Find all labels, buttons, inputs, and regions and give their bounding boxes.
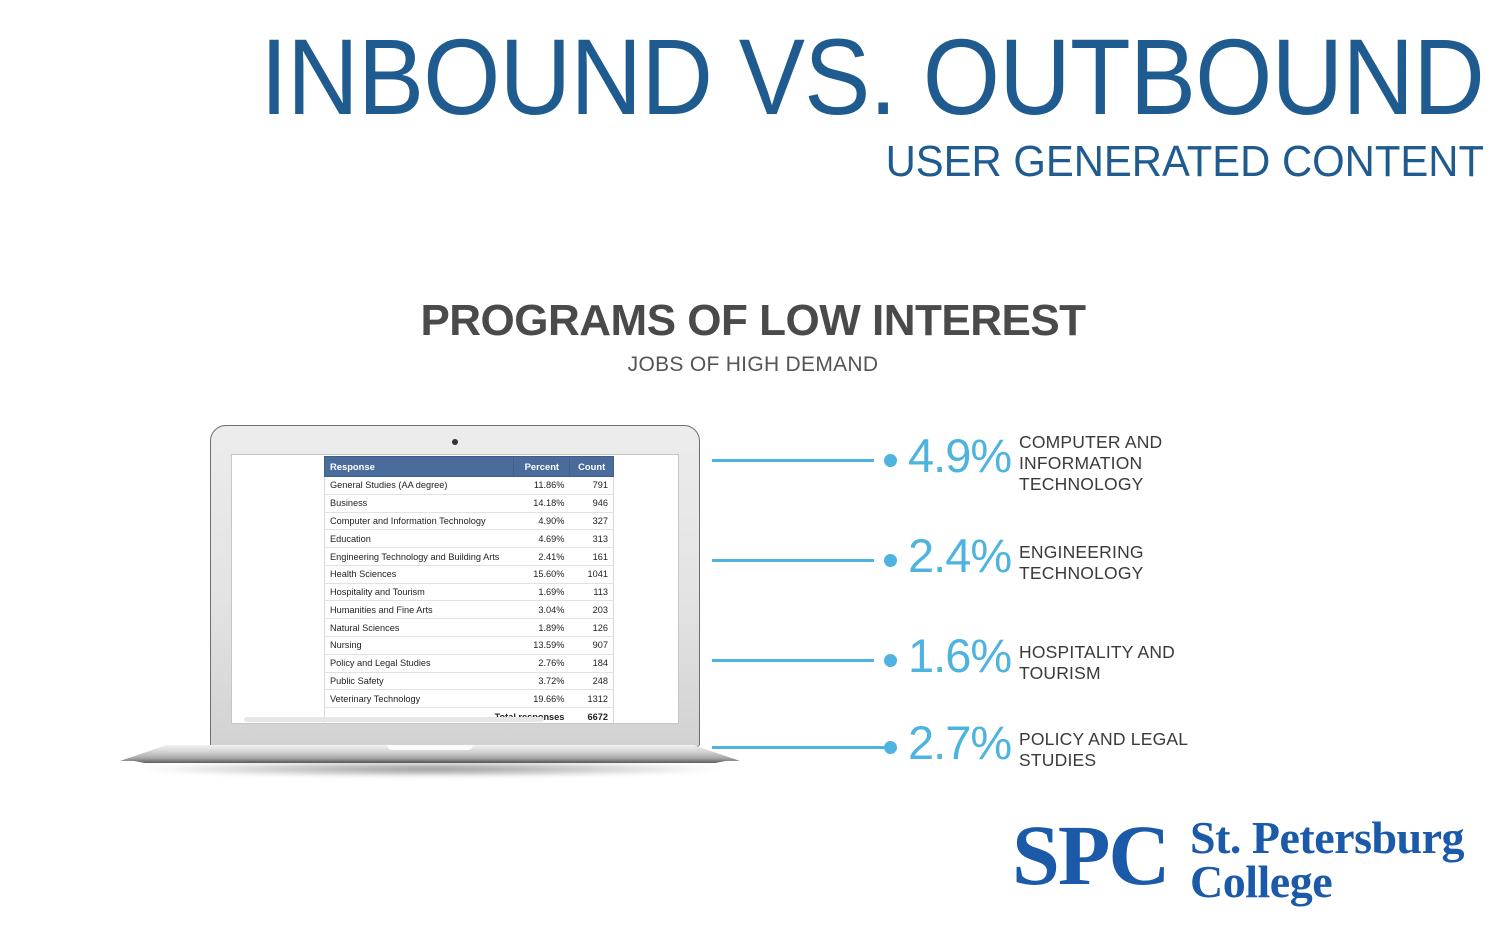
cell-percent: 14.18%	[514, 494, 570, 512]
callout-percent: 2.4%	[908, 532, 1011, 579]
table-row: Engineering Technology and Building Arts…	[325, 548, 614, 566]
table-row: Business 14.18% 946	[325, 494, 614, 512]
column-header-percent: Percent	[514, 457, 570, 477]
column-header-response: Response	[325, 457, 514, 477]
cell-percent: 4.90%	[514, 512, 570, 530]
page-subtitle: USER GENERATED CONTENT	[74, 138, 1484, 186]
cell-percent: 3.72%	[514, 672, 570, 690]
callout-connector-line	[712, 559, 874, 562]
table-row: Education 4.69% 313	[325, 530, 614, 548]
spc-logo: SPC St. Petersburg College	[1012, 810, 1482, 910]
cell-response: Nursing	[325, 637, 514, 655]
section-title: PROGRAMS OF LOW INTEREST	[0, 296, 1506, 346]
callout-bullet-dot	[884, 554, 897, 567]
cell-count: 161	[570, 548, 614, 566]
cell-percent: 19.66%	[514, 690, 570, 708]
camera-dot-icon	[452, 439, 458, 445]
laptop-screen: Response Percent Count General Studies (…	[231, 454, 679, 724]
callout-connector-line	[712, 459, 874, 462]
cell-response: Public Safety	[325, 672, 514, 690]
column-header-count: Count	[570, 457, 614, 477]
cell-percent: 3.04%	[514, 601, 570, 619]
cell-count: 248	[570, 672, 614, 690]
total-count: 6672	[570, 708, 614, 724]
laptop-shadow	[142, 761, 720, 777]
cell-percent: 13.59%	[514, 637, 570, 655]
callout-percent: 2.7%	[908, 719, 1011, 766]
table-header-row: Response Percent Count	[325, 457, 614, 477]
table-row: Computer and Information Technology 4.90…	[325, 512, 614, 530]
callout-percent: 1.6%	[908, 632, 1011, 679]
laptop-illustration: Response Percent Count General Studies (…	[120, 425, 740, 785]
cell-response: Veterinary Technology	[325, 690, 514, 708]
callout-connector-line	[712, 659, 874, 662]
table-row: Policy and Legal Studies 2.76% 184	[325, 654, 614, 672]
laptop-lid: Response Percent Count General Studies (…	[210, 425, 700, 747]
callout-bullet-dot	[884, 454, 897, 467]
cell-count: 313	[570, 530, 614, 548]
cell-response: Engineering Technology and Building Arts	[325, 548, 514, 566]
cell-response: General Studies (AA degree)	[325, 477, 514, 495]
callout-connector-line	[712, 746, 890, 749]
cell-response: Hospitality and Tourism	[325, 583, 514, 601]
laptop-base-notch	[387, 745, 473, 750]
cell-count: 126	[570, 619, 614, 637]
cell-percent: 2.76%	[514, 654, 570, 672]
cell-count: 1312	[570, 690, 614, 708]
cell-count: 791	[570, 477, 614, 495]
cell-count: 203	[570, 601, 614, 619]
cell-response: Computer and Information Technology	[325, 512, 514, 530]
cell-percent: 11.86%	[514, 477, 570, 495]
cell-count: 113	[570, 583, 614, 601]
section-heading: PROGRAMS OF LOW INTEREST JOBS OF HIGH DE…	[0, 296, 1506, 378]
table-body: General Studies (AA degree) 11.86% 791 B…	[325, 477, 614, 725]
cell-count: 1041	[570, 565, 614, 583]
cell-response: Humanities and Fine Arts	[325, 601, 514, 619]
callout-label: COMPUTER AND INFORMATION TECHNOLOGY	[1019, 432, 1249, 495]
logo-line-2: College	[1190, 860, 1464, 904]
logo-wordmark: St. Petersburg College	[1190, 816, 1464, 904]
cell-count: 184	[570, 654, 614, 672]
page-title: INBOUND VS. OUTBOUND	[119, 22, 1484, 132]
cell-count: 327	[570, 512, 614, 530]
callout-bullet-dot	[884, 654, 897, 667]
table-row: Health Sciences 15.60% 1041	[325, 565, 614, 583]
cell-response: Health Sciences	[325, 565, 514, 583]
survey-results-table: Response Percent Count General Studies (…	[324, 456, 614, 724]
cell-percent: 15.60%	[514, 565, 570, 583]
table-row: Natural Sciences 1.89% 126	[325, 619, 614, 637]
section-subtitle: JOBS OF HIGH DEMAND	[0, 352, 1506, 378]
cell-percent: 2.41%	[514, 548, 570, 566]
callout-label: HOSPITALITY AND TOURISM	[1019, 642, 1249, 684]
table-row: Humanities and Fine Arts 3.04% 203	[325, 601, 614, 619]
infographic-page: INBOUND VS. OUTBOUND USER GENERATED CONT…	[0, 0, 1506, 926]
table-row: Public Safety 3.72% 248	[325, 672, 614, 690]
table-row: Veterinary Technology 19.66% 1312	[325, 690, 614, 708]
logo-abbreviation: SPC	[1012, 812, 1168, 898]
cell-response: Education	[325, 530, 514, 548]
cell-count: 907	[570, 637, 614, 655]
callout-bullet-dot	[884, 741, 897, 754]
cell-response: Policy and Legal Studies	[325, 654, 514, 672]
cell-count: 946	[570, 494, 614, 512]
cell-percent: 1.89%	[514, 619, 570, 637]
callout-label: ENGINEERING TECHNOLOGY	[1019, 542, 1249, 584]
table-row: General Studies (AA degree) 11.86% 791	[325, 477, 614, 495]
callout-percent: 4.9%	[908, 432, 1011, 479]
screen-scrollbar[interactable]	[244, 717, 544, 722]
table-row: Nursing 13.59% 907	[325, 637, 614, 655]
page-header: INBOUND VS. OUTBOUND USER GENERATED CONT…	[0, 0, 1506, 186]
cell-response: Business	[325, 494, 514, 512]
cell-percent: 4.69%	[514, 530, 570, 548]
cell-percent: 1.69%	[514, 583, 570, 601]
table-row: Hospitality and Tourism 1.69% 113	[325, 583, 614, 601]
cell-response: Natural Sciences	[325, 619, 514, 637]
callout-label: POLICY AND LEGAL STUDIES	[1019, 729, 1249, 771]
